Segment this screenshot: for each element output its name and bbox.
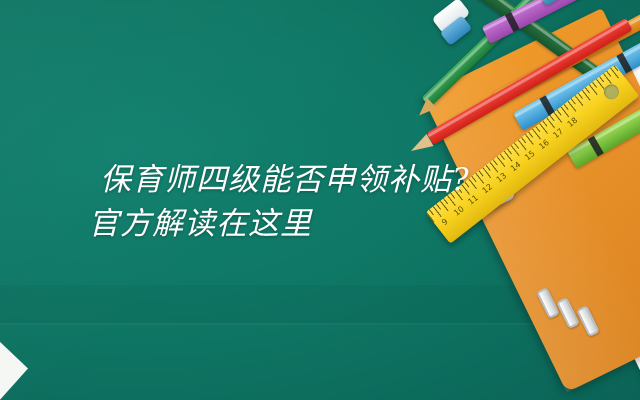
crayon-band <box>588 136 604 157</box>
poster-headline: 保育师四级能否申领补贴? 官方解读在这里 <box>88 158 558 246</box>
headline-line-1: 保育师四级能否申领补贴? <box>88 158 558 202</box>
crayon-band <box>505 12 520 32</box>
poster-canvas: 9 10 11 12 13 14 15 16 17 18 保育师四级能否申领补贴… <box>0 0 640 400</box>
headline-line-2: 官方解读在这里 <box>88 202 558 246</box>
